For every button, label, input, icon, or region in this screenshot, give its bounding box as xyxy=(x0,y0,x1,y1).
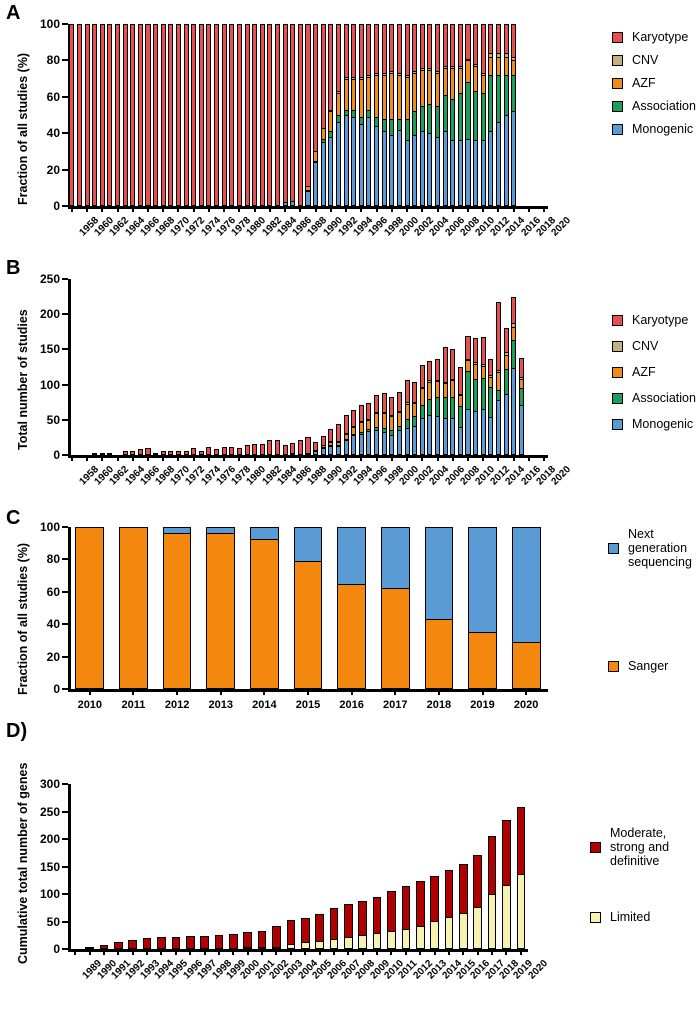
bar-segment xyxy=(496,302,501,370)
bar-segment xyxy=(123,451,128,455)
y-tick-label: 50 xyxy=(47,915,60,929)
bar-segment xyxy=(397,130,402,206)
bar-segment xyxy=(258,931,267,946)
bar-segment xyxy=(229,24,234,206)
bar xyxy=(459,864,468,949)
x-tick xyxy=(319,949,321,955)
bar xyxy=(287,920,296,949)
x-tick xyxy=(421,455,423,461)
y-tick xyxy=(62,811,68,813)
legend-label: AZF xyxy=(632,76,656,90)
legend-swatch-icon xyxy=(612,124,623,135)
x-tick xyxy=(491,949,493,955)
bar xyxy=(420,24,425,206)
bar-segment xyxy=(416,881,425,926)
panel-a-legend: KaryotypeCNVAZFAssociationMonogenic xyxy=(612,30,696,145)
bar-segment xyxy=(191,448,196,455)
bar-segment xyxy=(458,93,463,140)
bar-segment xyxy=(504,355,509,369)
bar xyxy=(214,24,219,206)
bar xyxy=(294,527,323,689)
bar xyxy=(517,807,526,949)
bar-segment xyxy=(481,337,486,364)
bar-segment xyxy=(315,941,324,949)
bar-segment xyxy=(305,437,310,453)
x-tick xyxy=(117,949,119,955)
legend-label: CNV xyxy=(632,53,658,67)
bar-segment xyxy=(465,60,470,82)
y-tick-label: 20 xyxy=(47,163,60,177)
bar-segment xyxy=(229,934,238,949)
bar xyxy=(245,445,250,455)
bar-segment xyxy=(301,942,310,949)
bar-segment xyxy=(214,449,219,455)
bar xyxy=(153,453,158,455)
bar xyxy=(473,338,478,455)
bar-segment xyxy=(344,24,349,77)
bar-segment xyxy=(402,886,411,928)
bar-segment xyxy=(283,24,288,202)
y-tick xyxy=(62,838,68,840)
bar xyxy=(199,451,204,455)
bar xyxy=(301,918,310,949)
x-tick xyxy=(394,689,396,695)
bar-segment xyxy=(405,380,410,403)
bar-segment xyxy=(473,24,478,64)
legend-swatch-icon xyxy=(612,32,623,43)
bar xyxy=(412,382,417,455)
bar-segment xyxy=(425,527,454,619)
bar xyxy=(359,24,364,206)
bar xyxy=(191,448,196,455)
bar-segment xyxy=(405,119,410,141)
bar-segment xyxy=(473,140,478,206)
legend-item: CNV xyxy=(612,53,696,67)
panel-a: A Fraction of all studies (%) 0204060801… xyxy=(0,0,696,255)
y-tick-label: 100 xyxy=(40,378,60,392)
x-tick xyxy=(223,455,225,461)
bar-segment xyxy=(260,444,265,455)
bar-segment xyxy=(206,447,211,455)
bar-segment xyxy=(351,435,356,455)
bar-segment xyxy=(344,79,349,110)
bar xyxy=(458,367,463,455)
bar-segment xyxy=(374,117,379,126)
bar xyxy=(443,347,448,455)
bar-segment xyxy=(374,395,379,412)
y-tick-label: 40 xyxy=(47,126,60,140)
bar-segment xyxy=(330,908,339,939)
legend-swatch-icon xyxy=(608,543,619,554)
bar xyxy=(358,901,367,949)
bar-segment xyxy=(435,106,440,137)
bar-segment xyxy=(481,409,486,455)
bar-segment xyxy=(215,935,224,949)
x-tick xyxy=(505,949,507,955)
bar-segment xyxy=(397,24,402,73)
x-tick-label: 2010 xyxy=(78,699,102,711)
legend-label: Karyotype xyxy=(632,30,688,44)
bar-segment xyxy=(468,632,497,690)
legend-label: Limited xyxy=(610,910,650,924)
bar-segment xyxy=(222,24,227,206)
y-tick-label: 50 xyxy=(47,413,60,427)
bar xyxy=(100,24,105,206)
x-tick xyxy=(247,949,249,955)
bar xyxy=(445,870,454,949)
bar-segment xyxy=(519,358,524,377)
bar xyxy=(107,453,112,455)
x-tick xyxy=(405,949,407,955)
bar xyxy=(512,527,541,689)
bar-segment xyxy=(450,349,455,379)
bar-segment xyxy=(389,416,394,429)
bar-segment xyxy=(351,427,356,434)
bar-segment xyxy=(200,936,209,949)
bar xyxy=(496,24,501,206)
bar-segment xyxy=(157,937,166,949)
panel-d-legend: Moderate, strong and definitiveLimited xyxy=(590,826,696,924)
x-tick-label: 2017 xyxy=(383,699,407,711)
bar-segment xyxy=(458,395,463,406)
bar-segment xyxy=(275,24,280,206)
legend-item: Moderate, strong and definitive xyxy=(590,826,696,868)
bar-segment xyxy=(77,24,82,206)
bar-segment xyxy=(465,24,470,59)
bar-segment xyxy=(184,451,189,455)
bar-segment xyxy=(473,379,478,411)
bar-segment xyxy=(443,24,448,66)
bar-segment xyxy=(252,444,257,455)
legend-item: Monogenic xyxy=(612,417,696,431)
y-tick-label: 80 xyxy=(47,552,60,566)
bar-segment xyxy=(287,920,296,943)
x-tick xyxy=(86,455,88,461)
bar-segment xyxy=(359,24,364,77)
legend-item: Karyotype xyxy=(612,30,696,44)
bar-segment xyxy=(382,432,387,455)
bar-segment xyxy=(252,24,257,206)
panel-b-plot: 0501001502002501958196019621964196619681… xyxy=(68,279,548,455)
x-tick xyxy=(177,206,179,212)
bar-segment xyxy=(321,448,326,455)
bar-segment xyxy=(153,453,158,455)
bar-segment xyxy=(374,430,379,455)
panel-a-ylabel: Fraction of all studies (%) xyxy=(16,53,30,205)
bar-segment xyxy=(374,24,379,73)
bar-segment xyxy=(373,897,382,933)
x-tick xyxy=(452,455,454,461)
bar xyxy=(519,358,524,455)
x-tick xyxy=(208,455,210,461)
legend-item: AZF xyxy=(612,76,696,90)
bar-segment xyxy=(473,364,478,379)
x-tick xyxy=(175,949,177,955)
bar-segment xyxy=(328,24,333,110)
bar-segment xyxy=(420,365,425,387)
x-tick xyxy=(103,949,105,955)
bar xyxy=(222,447,227,455)
x-tick xyxy=(146,949,148,955)
legend-swatch-icon xyxy=(612,419,623,430)
bar xyxy=(123,451,128,455)
bar-segment xyxy=(366,24,371,75)
legend-swatch-icon xyxy=(612,393,623,404)
bar-segment xyxy=(290,453,295,455)
bar-segment xyxy=(427,382,432,399)
x-tick xyxy=(71,455,73,461)
bar-segment xyxy=(366,403,371,418)
bar xyxy=(298,24,303,206)
bar-segment xyxy=(443,397,448,418)
x-tick xyxy=(419,949,421,955)
x-tick xyxy=(261,949,263,955)
bar-segment xyxy=(405,419,410,428)
bar-segment xyxy=(481,24,486,73)
bar-segment xyxy=(313,162,318,206)
bar-segment xyxy=(206,24,211,206)
bar xyxy=(412,24,417,206)
bar-segment xyxy=(389,397,394,415)
bar xyxy=(290,443,295,455)
bar-segment xyxy=(69,24,74,206)
bar-segment xyxy=(465,409,470,455)
bar xyxy=(488,359,493,455)
bar xyxy=(313,442,318,455)
bar-segment xyxy=(366,110,371,117)
bar xyxy=(305,24,310,206)
x-tick xyxy=(193,455,195,461)
bar-segment xyxy=(412,111,417,135)
bar-segment xyxy=(250,539,279,689)
x-tick xyxy=(315,206,317,212)
bar xyxy=(275,440,280,455)
bar-segment xyxy=(465,360,470,371)
x-tick xyxy=(376,455,378,461)
bar-segment xyxy=(382,119,387,132)
x-tick xyxy=(390,949,392,955)
legend-label: AZF xyxy=(632,365,656,379)
bar-segment xyxy=(496,24,501,53)
bar-segment xyxy=(488,836,497,894)
bar-segment xyxy=(199,24,204,206)
bar xyxy=(143,938,152,949)
bar-segment xyxy=(412,403,417,416)
bar xyxy=(298,440,303,455)
bar-segment xyxy=(427,361,432,381)
bar-segment xyxy=(298,440,303,455)
x-tick xyxy=(117,206,119,212)
panel-c-plot: 0204060801002010201120122013201420152016… xyxy=(68,527,548,689)
bar xyxy=(336,424,341,455)
bar xyxy=(387,891,396,949)
x-tick xyxy=(528,455,530,461)
bar-segment xyxy=(427,415,432,455)
bar-segment xyxy=(290,201,295,206)
y-tick xyxy=(62,591,68,593)
bar-segment xyxy=(328,429,333,440)
bar-segment xyxy=(468,527,497,631)
bar-segment xyxy=(199,451,204,455)
bar-segment xyxy=(481,366,486,378)
bar-segment xyxy=(351,24,356,77)
bar-segment xyxy=(128,940,137,949)
x-tick xyxy=(467,455,469,461)
y-tick-label: 0 xyxy=(53,942,60,956)
x-tick xyxy=(406,206,408,212)
bar xyxy=(344,904,353,949)
bar xyxy=(402,886,411,949)
y-tick xyxy=(62,59,68,61)
x-tick xyxy=(482,689,484,695)
x-tick xyxy=(74,949,76,955)
bar xyxy=(161,24,166,206)
x-tick xyxy=(304,949,306,955)
bar xyxy=(328,429,333,455)
bar-segment xyxy=(107,453,112,455)
panel-c-ylabel: Fraction of all studies (%) xyxy=(16,543,30,695)
panel-c-legend: Next generation sequencingSanger xyxy=(608,527,696,673)
bar-segment xyxy=(496,400,501,455)
x-tick xyxy=(406,455,408,461)
bar-segment xyxy=(443,418,448,455)
bar xyxy=(153,24,158,206)
bar-segment xyxy=(430,921,439,949)
legend-label: Sanger xyxy=(628,659,668,673)
bar xyxy=(115,24,120,206)
bar-segment xyxy=(328,446,333,455)
bar-segment xyxy=(298,24,303,206)
legend-swatch-icon xyxy=(612,367,623,378)
bar xyxy=(283,445,288,455)
y-tick-label: 0 xyxy=(53,682,60,696)
bar-segment xyxy=(163,533,192,689)
bar-segment xyxy=(488,24,493,53)
y-tick xyxy=(62,23,68,25)
bar xyxy=(75,527,104,689)
bar-segment xyxy=(511,327,516,340)
bar-segment xyxy=(458,406,463,426)
x-tick-label: 2016 xyxy=(339,699,363,711)
bar xyxy=(450,349,455,455)
bar-segment xyxy=(373,933,382,949)
bar-segment xyxy=(214,24,219,206)
bar-segment xyxy=(488,359,493,375)
legend-label: Karyotype xyxy=(632,313,688,327)
bar-segment xyxy=(412,24,417,71)
x-tick xyxy=(497,206,499,212)
bar-segment xyxy=(267,440,272,455)
bar-segment xyxy=(412,135,417,206)
panel-a-x-axis xyxy=(68,206,548,209)
bar xyxy=(420,365,425,455)
x-tick xyxy=(362,949,364,955)
bar-segment xyxy=(119,527,148,689)
bar xyxy=(206,24,211,206)
bar-segment xyxy=(511,368,516,455)
y-tick-label: 250 xyxy=(40,805,60,819)
bar xyxy=(215,935,224,949)
bar-segment xyxy=(443,347,448,381)
x-tick xyxy=(176,689,178,695)
bar-segment xyxy=(443,68,448,95)
bar-segment xyxy=(358,935,367,949)
bar-segment xyxy=(488,387,493,417)
bar-segment xyxy=(374,413,379,426)
x-tick xyxy=(448,949,450,955)
bar-segment xyxy=(435,137,440,206)
legend-label: Next generation sequencing xyxy=(628,527,696,569)
y-tick xyxy=(62,623,68,625)
y-tick-label: 100 xyxy=(40,17,60,31)
bar-segment xyxy=(517,874,526,949)
bar-segment xyxy=(313,151,318,160)
bar-segment xyxy=(435,416,440,455)
bar-segment xyxy=(305,24,310,186)
bar-segment xyxy=(359,124,364,206)
x-tick xyxy=(263,689,265,695)
bar-segment xyxy=(92,453,97,455)
bar xyxy=(305,437,310,455)
bar-segment xyxy=(519,405,524,455)
bar-segment xyxy=(412,416,417,426)
x-tick xyxy=(284,455,286,461)
bar xyxy=(123,24,128,206)
bar-segment xyxy=(397,119,402,130)
x-tick xyxy=(101,206,103,212)
bar xyxy=(321,24,326,206)
bar-segment xyxy=(358,901,367,935)
bar-segment xyxy=(321,436,326,446)
x-tick xyxy=(275,949,277,955)
bar-segment xyxy=(114,942,123,949)
x-tick xyxy=(543,206,545,212)
x-tick xyxy=(86,206,88,212)
bar-segment xyxy=(473,338,478,362)
bar-segment xyxy=(75,527,104,689)
x-tick xyxy=(513,206,515,212)
x-tick xyxy=(482,455,484,461)
x-tick xyxy=(307,689,309,695)
bar-segment xyxy=(351,110,356,117)
legend-item: Next generation sequencing xyxy=(608,527,696,569)
x-tick xyxy=(238,206,240,212)
bar-segment xyxy=(450,380,455,396)
bar-segment xyxy=(488,894,497,949)
bar-segment xyxy=(92,24,97,206)
bar-segment xyxy=(473,855,482,907)
x-tick xyxy=(101,455,103,461)
bar-segment xyxy=(420,418,425,455)
x-tick xyxy=(117,455,119,461)
bar xyxy=(374,395,379,455)
bar-segment xyxy=(366,117,371,206)
x-tick xyxy=(345,206,347,212)
bar-segment xyxy=(405,24,410,75)
bar xyxy=(416,881,425,949)
bar-segment xyxy=(459,864,468,914)
legend-item: AZF xyxy=(612,365,696,379)
y-tick-label: 60 xyxy=(47,90,60,104)
bar-segment xyxy=(283,445,288,455)
bar-segment xyxy=(260,24,265,206)
bar-segment xyxy=(416,926,425,949)
x-tick xyxy=(299,455,301,461)
bar xyxy=(145,24,150,206)
y-tick xyxy=(62,278,68,280)
legend-swatch-icon xyxy=(590,842,601,853)
bar xyxy=(405,24,410,206)
